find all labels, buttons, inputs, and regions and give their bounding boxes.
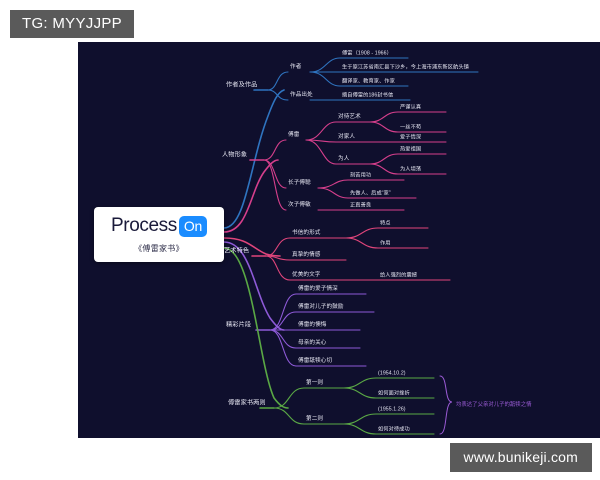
- tg-badge: TG: MYYJJPP: [10, 10, 134, 38]
- logo-text: Process: [111, 215, 177, 237]
- node-excerpt-3[interactable]: 傅雷的懊悔: [298, 323, 326, 330]
- watermark: www.bunikeji.com: [450, 443, 592, 472]
- logo-badge: On: [179, 216, 207, 237]
- node-letter-one[interactable]: 第一则: [306, 381, 323, 388]
- node-letter-one-theme[interactable]: 如何面对挫折: [378, 391, 410, 398]
- branch-label-two-letters[interactable]: 傅雷家书两则: [228, 400, 266, 408]
- node-son-person-first[interactable]: 先做人、后成“家”: [350, 191, 391, 198]
- root-node[interactable]: Process On 《傅雷家书》: [94, 207, 224, 262]
- branch-label-art-features[interactable]: 艺术特色: [224, 248, 249, 256]
- node-writing-impact[interactable]: 给人强烈的震撼: [380, 273, 417, 280]
- mindmap-canvas: Process On 《傅雷家书》 作者及作品 作者 傅雷（1908 - 196…: [78, 42, 600, 438]
- node-excerpt-1[interactable]: 傅雷的爱子情深: [298, 287, 338, 294]
- node-conduct-upright[interactable]: 为人坦荡: [400, 167, 421, 174]
- node-second-son[interactable]: 次子傅敏: [288, 203, 311, 210]
- node-sincere-emotion[interactable]: 真挚的情感: [292, 253, 320, 260]
- branch-label-author-works[interactable]: 作者及作品: [226, 82, 257, 90]
- node-work-source-detail[interactable]: 摘自傅雷的186封书信: [342, 93, 393, 100]
- node-form-function[interactable]: 作用: [380, 241, 391, 248]
- processon-logo: Process On: [111, 215, 207, 237]
- root-subtitle: 《傅雷家书》: [134, 243, 184, 254]
- node-excerpt-4[interactable]: 母亲的关心: [298, 341, 326, 348]
- node-excerpt-5[interactable]: 傅雷舐犊心切: [298, 359, 332, 366]
- branch-label-character[interactable]: 人物形象: [222, 152, 247, 160]
- letters-annotation: 均表达了父亲对儿子的舐犊之情: [456, 400, 531, 408]
- node-letter-two-date[interactable]: (1955.1.26): [378, 407, 406, 414]
- node-author-birthplace[interactable]: 生于原江苏省南汇县下沙乡，今上海市浦东新区航头镇: [342, 65, 469, 72]
- node-toward-family[interactable]: 对家人: [338, 135, 355, 142]
- node-second-son-trait[interactable]: 正直善良: [350, 203, 371, 210]
- node-letter-two[interactable]: 第二则: [306, 417, 323, 424]
- node-beautiful-writing[interactable]: 优美的文字: [292, 273, 320, 280]
- node-art-meticulous[interactable]: 一丝不苟: [400, 125, 421, 132]
- node-excerpt-2[interactable]: 傅雷对儿子的鼓励: [298, 305, 344, 312]
- node-conduct-patriotic[interactable]: 热爱祖国: [400, 147, 421, 154]
- node-letter-form[interactable]: 书信的形式: [292, 231, 320, 238]
- branch-label-excerpts[interactable]: 精彩片段: [226, 322, 251, 330]
- node-form-characteristics[interactable]: 特点: [380, 221, 391, 228]
- node-family-love[interactable]: 爱子情深: [400, 135, 421, 142]
- node-letter-two-theme[interactable]: 如何对待成功: [378, 427, 410, 434]
- node-fulei[interactable]: 傅雷: [288, 133, 299, 140]
- node-author[interactable]: 作者: [290, 65, 301, 72]
- node-toward-art[interactable]: 对待艺术: [338, 115, 361, 122]
- node-letter-one-date[interactable]: (1954.10.2): [378, 371, 406, 378]
- node-art-rigorous[interactable]: 严谨认真: [400, 105, 421, 112]
- node-son-diligent[interactable]: 刻苦用功: [350, 173, 371, 180]
- node-author-lifespan[interactable]: 傅雷（1908 - 1966）: [342, 51, 392, 58]
- node-eldest-son[interactable]: 长子傅聪: [288, 181, 311, 188]
- node-conduct[interactable]: 为人: [338, 157, 349, 164]
- node-author-professions[interactable]: 翻译家、教育家、作家: [342, 79, 395, 86]
- node-work-source[interactable]: 作品出处: [290, 93, 313, 100]
